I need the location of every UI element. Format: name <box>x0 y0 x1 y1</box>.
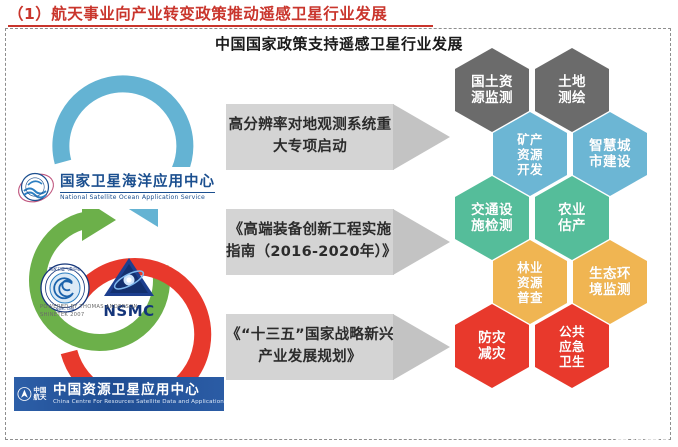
nsoas-name-cn: 国家卫星海洋应用中心 <box>60 175 215 191</box>
cresda-name-en: China Centre For Resources Satellite Dat… <box>53 399 224 405</box>
policy-text-3: 《“十三五”国家战略新兴产业发展规划》 <box>226 325 394 369</box>
application-hexagon-label: 农业估产 <box>558 202 586 234</box>
policy-cycle-diagram: 国家卫星海洋应用中心 National Satellite Ocean Appl… <box>8 52 236 437</box>
logo-cresda: 中国航天 中国资源卫星应用中心 China Centre For Resourc… <box>14 377 224 411</box>
policy-banner-2: 《高端装备创新工程实施指南（2016-2020年）》 <box>226 209 450 275</box>
page-header: （1）航天事业向产业转变政策推动遥感卫星行业发展 <box>0 0 678 30</box>
watermark-logo-icon <box>615 427 628 440</box>
cresda-name-cn: 中国资源卫星应用中心 <box>53 383 224 397</box>
watermark-text: 格隆汇 <box>631 424 670 443</box>
application-hexagon-label: 公共应急卫生 <box>559 324 585 369</box>
casc-icon <box>17 382 32 406</box>
watermark: 格隆汇 <box>615 424 670 443</box>
nsmc-triangle-icon <box>102 256 156 298</box>
title-underline <box>8 25 433 27</box>
arrow-head-icon <box>393 104 450 170</box>
application-hexagon-label: 土地测绘 <box>558 74 586 106</box>
logo-nsmc: 国家卫星气象中心 NSMC CMA NSMC POWERED BY THOMAS… <box>38 257 213 319</box>
page-title: （1）航天事业向产业转变政策推动遥感卫星行业发展 <box>8 2 387 24</box>
policy-banner-3: 《“十三五”国家战略新兴产业发展规划》 <box>226 314 450 380</box>
logo-nsoas: 国家卫星海洋应用中心 National Satellite Ocean Appl… <box>16 167 222 209</box>
application-hexagon-label: 交通设施检测 <box>471 202 513 234</box>
policy-banner-body: 《“十三五”国家战略新兴产业发展规划》 <box>226 314 394 380</box>
application-hexagon-label: 防灾减灾 <box>478 330 506 362</box>
application-hexagon-label: 林业资源普查 <box>517 260 543 305</box>
application-hexagon-label: 生态环境监测 <box>589 266 631 298</box>
casc-label: 中国航天 <box>32 387 48 401</box>
nsmc-credit-line: POWERED BY THOMAS ANDERSONSHINETEK 2007 <box>40 304 138 319</box>
svg-text:国家卫星气象中心: 国家卫星气象中心 <box>49 266 81 272</box>
application-hexagon-label: 矿产资源开发 <box>517 132 543 177</box>
arrow-head-icon <box>393 209 450 275</box>
nsoas-emblem-icon <box>16 169 56 207</box>
application-hexagon-label: 智慧城市建设 <box>589 138 631 170</box>
policy-banner-body: 高分辨率对地观测系统重大专项启动 <box>226 104 394 170</box>
application-hexagon-grid: 国土资源监测土地测绘矿产资源开发智慧城市建设交通设施检测农业估产林业资源普查生态… <box>455 48 670 433</box>
arrow-head-icon <box>393 314 450 380</box>
policy-text-2: 《高端装备创新工程实施指南（2016-2020年）》 <box>226 220 394 264</box>
application-hexagon-label: 国土资源监测 <box>471 74 513 106</box>
policy-text-1: 高分辨率对地观测系统重大专项启动 <box>226 115 394 159</box>
policy-banner-body: 《高端装备创新工程实施指南（2016-2020年）》 <box>226 209 394 275</box>
policy-banner-1: 高分辨率对地观测系统重大专项启动 <box>226 104 450 170</box>
nsoas-name-en: National Satellite Ocean Application Ser… <box>60 192 215 201</box>
